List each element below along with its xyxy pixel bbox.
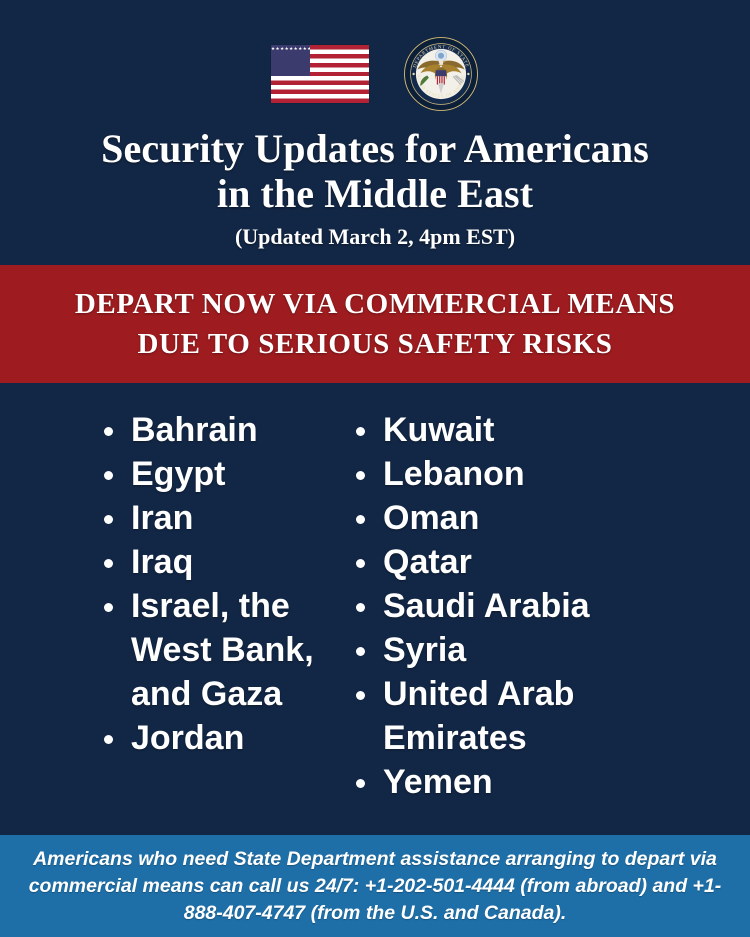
list-item: Saudi Arabia [350, 584, 750, 628]
alert-banner-line2: DUE TO SERIOUS SAFETY RISKS [138, 324, 613, 364]
alert-banner: DEPART NOW VIA COMMERCIAL MEANS DUE TO S… [0, 265, 750, 383]
page-title-line1: Security Updates for Americans [101, 126, 649, 171]
list-item: Iraq [98, 540, 330, 584]
list-item: Syria [350, 628, 750, 672]
footer-assistance-text: Americans who need State Department assi… [0, 846, 750, 927]
list-item: Yemen [350, 760, 750, 804]
united-states-flag-icon: ★★★★★★★★★★★★★★★★★★★★★★★★★★★★★★★★★★★★★★★★… [271, 45, 369, 103]
list-item: United Arab Emirates [350, 672, 750, 760]
list-item: Iran [98, 496, 330, 540]
page-title-line2: in the Middle East [217, 171, 533, 216]
page-subtitle: (Updated March 2, 4pm EST) [0, 224, 750, 250]
country-list-left: Bahrain Egypt Iran Iraq Israel, the West… [98, 408, 330, 760]
country-list-right: Kuwait Lebanon Oman Qatar Saudi Arabia S… [350, 408, 750, 804]
list-item: Egypt [98, 452, 330, 496]
list-item: Oman [350, 496, 750, 540]
list-item: Kuwait [350, 408, 750, 452]
title-block: Security Updates for Americansin the Mid… [0, 126, 750, 250]
page-title: Security Updates for Americansin the Mid… [0, 126, 750, 216]
footer-banner: Americans who need State Department assi… [0, 835, 750, 937]
list-item: Jordan [98, 716, 330, 760]
country-column-right: Kuwait Lebanon Oman Qatar Saudi Arabia S… [330, 408, 750, 804]
alert-banner-line1: DEPART NOW VIA COMMERCIAL MEANS [75, 284, 675, 324]
list-item: Qatar [350, 540, 750, 584]
country-columns: Bahrain Egypt Iran Iraq Israel, the West… [0, 408, 750, 828]
emblem-row: ★★★★★★★★★★★★★★★★★★★★★★★★★★★★★★★★★★★★★★★★… [0, 36, 750, 112]
department-of-state-seal-icon: DEPARTMENT OF STATE UNITED STATES OF AME… [403, 36, 479, 112]
country-column-left: Bahrain Egypt Iran Iraq Israel, the West… [0, 408, 330, 760]
list-item: Israel, the West Bank, and Gaza [98, 584, 330, 716]
security-update-poster: ★★★★★★★★★★★★★★★★★★★★★★★★★★★★★★★★★★★★★★★★… [0, 0, 750, 937]
flag-stars: ★★★★★★★★★★★★★★★★★★★★★★★★★★★★★★★★★★★★★★★★… [271, 45, 310, 76]
list-item: Bahrain [98, 408, 330, 452]
list-item: Lebanon [350, 452, 750, 496]
